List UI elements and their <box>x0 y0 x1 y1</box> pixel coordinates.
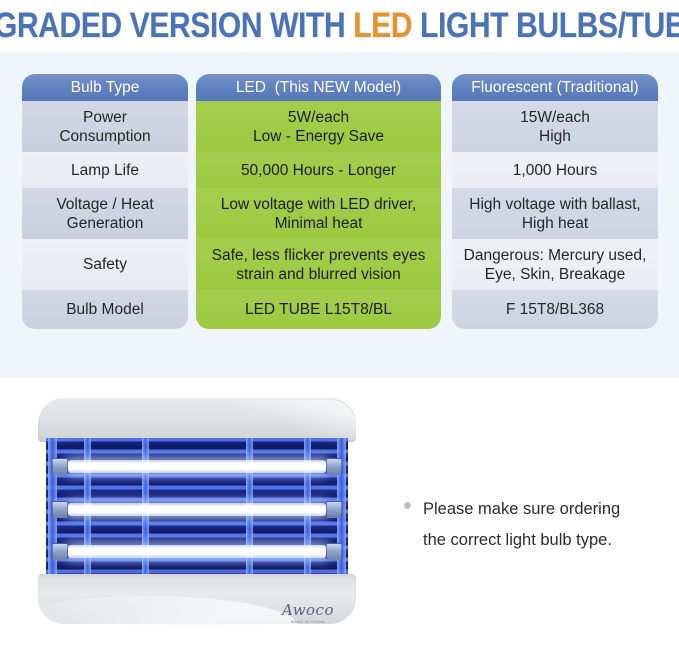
row-fluorescent-value: Dangerous: Mercury used, Eye, Skin, Brea… <box>452 239 658 290</box>
uv-grille <box>46 438 348 578</box>
led-line: strain and blurred vision <box>236 265 401 284</box>
row-feature-label: Lamp Life <box>22 152 188 188</box>
led-line: Low voltage with LED driver, <box>221 195 417 214</box>
feature-line: Consumption <box>59 127 150 146</box>
brand-logo: Awoco MADE IN CHINA <box>282 601 334 624</box>
fluorescent-line: High <box>539 127 571 146</box>
bug-zapper-unit: Awoco MADE IN CHINA <box>32 398 362 630</box>
uv-tube <box>68 503 326 516</box>
table-row: Bulb Model LED TUBE L15T8/BL F 15T8/BL36… <box>22 290 658 329</box>
table-row: Voltage / Heat Generation Low voltage wi… <box>22 188 658 239</box>
feature-line: Lamp Life <box>71 161 139 180</box>
brand-name: Awoco <box>282 601 334 619</box>
row-fluorescent-value: 15W/each High <box>452 101 658 152</box>
tube-end-cap <box>326 543 342 560</box>
table-row: Lamp Life 50,000 Hours - Longer 1,000 Ho… <box>22 152 658 188</box>
row-led-value: Safe, less flicker prevents eyes strain … <box>196 239 441 290</box>
row-feature-label: Power Consumption <box>22 101 188 152</box>
led-line: Minimal heat <box>275 214 363 233</box>
table-row: Power Consumption 5W/each Low - Energy S… <box>22 101 658 152</box>
ordering-note: Please make sure ordering the correct li… <box>404 494 654 556</box>
page-title-bar: UPGRADED VERSION WITH LED LIGHT BULBS/TU… <box>0 0 679 52</box>
fluorescent-line: High voltage with ballast, <box>469 195 640 214</box>
row-feature-label: Voltage / Heat Generation <box>22 188 188 239</box>
fluorescent-line: Eye, Skin, Breakage <box>485 265 625 284</box>
table-row: Safety Safe, less flicker prevents eyes … <box>22 239 658 290</box>
tube-end-cap <box>52 458 68 475</box>
row-fluorescent-value: 1,000 Hours <box>452 152 658 188</box>
note-line: the correct light bulb type. <box>423 525 620 556</box>
row-led-value: 50,000 Hours - Longer <box>196 152 441 188</box>
note-line: Please make sure ordering <box>423 494 620 525</box>
feature-line: Safety <box>83 255 127 274</box>
table-header-led: LED (This NEW Model) <box>196 74 441 101</box>
product-top-housing <box>38 398 356 442</box>
uv-tube <box>68 545 326 558</box>
feature-line: Bulb Model <box>66 300 144 319</box>
table-header-row: Bulb Type LED (This NEW Model) Fluoresce… <box>22 74 658 101</box>
feature-line: Voltage / Heat <box>56 195 153 214</box>
bullet-icon <box>404 502 411 509</box>
fluorescent-line: 1,000 Hours <box>513 161 597 180</box>
row-fluorescent-value: High voltage with ballast, High heat <box>452 188 658 239</box>
row-led-value: LED TUBE L15T8/BL <box>196 290 441 329</box>
table-header-bulb-type: Bulb Type <box>22 74 188 101</box>
row-led-value: 5W/each Low - Energy Save <box>196 101 441 152</box>
product-image: Awoco MADE IN CHINA <box>32 398 362 630</box>
row-led-value: Low voltage with LED driver, Minimal hea… <box>196 188 441 239</box>
tube-end-cap <box>326 458 342 475</box>
row-fluorescent-value: F 15T8/BL368 <box>452 290 658 329</box>
fluorescent-line: F 15T8/BL368 <box>506 300 604 319</box>
feature-line: Power <box>83 108 127 127</box>
fluorescent-line: High heat <box>522 214 588 233</box>
led-line: Safe, less flicker prevents eyes <box>212 246 426 265</box>
page-title-suffix: LIGHT BULBS/TUBES <box>412 6 679 45</box>
page-title: UPGRADED VERSION WITH LED LIGHT BULBS/TU… <box>0 8 679 44</box>
brand-subtext: MADE IN CHINA <box>282 620 334 624</box>
led-line: LED TUBE L15T8/BL <box>245 300 392 319</box>
tube-end-cap <box>52 501 68 518</box>
feature-line: Generation <box>67 214 144 233</box>
fluorescent-line: 15W/each <box>520 108 590 127</box>
comparison-table: Bulb Type LED (This NEW Model) Fluoresce… <box>22 74 658 329</box>
uv-tube <box>68 460 326 473</box>
page-title-prefix: UPGRADED VERSION WITH <box>0 6 354 45</box>
fluorescent-line: Dangerous: Mercury used, <box>464 246 647 265</box>
led-line: Low - Energy Save <box>253 127 384 146</box>
page-title-accent: LED <box>354 6 413 45</box>
table-header-fluorescent: Fluorescent (Traditional) <box>452 74 658 101</box>
ordering-note-text: Please make sure ordering the correct li… <box>423 494 620 556</box>
tube-end-cap <box>326 501 342 518</box>
row-feature-label: Safety <box>22 239 188 290</box>
row-feature-label: Bulb Model <box>22 290 188 329</box>
tube-end-cap <box>52 543 68 560</box>
led-line: 50,000 Hours - Longer <box>241 161 396 180</box>
led-line: 5W/each <box>288 108 349 127</box>
